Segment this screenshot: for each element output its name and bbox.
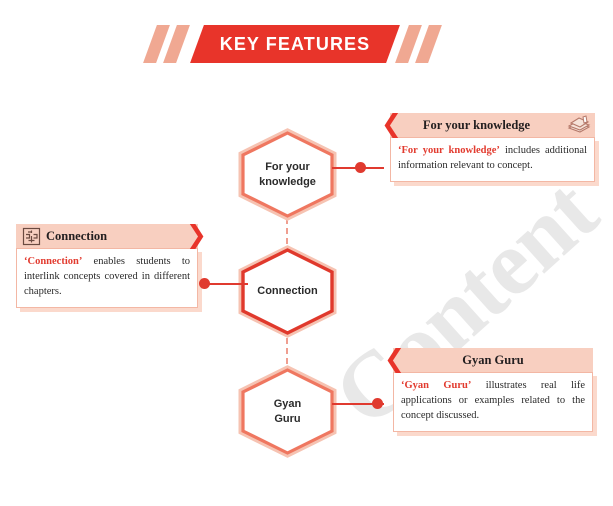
hexagon-for-your-knowledge[interactable]: For your knowledge: [236, 128, 339, 221]
hexagon-label-for-your-knowledge: For your knowledge: [236, 128, 339, 221]
hexagon-label-gyan-guru: Gyan Guru: [236, 365, 339, 458]
callout-header-gyan-guru: ❮ Gyan Guru: [393, 348, 593, 372]
books-icon: [563, 115, 595, 135]
callout-body-connection: ‘Connection’ enables students to interli…: [16, 248, 198, 308]
callout-title-gyan-guru: Gyan Guru: [393, 353, 593, 368]
key-features-infographic: Content KEY FEATURES For your knowledge …: [0, 0, 613, 449]
hex-line-1: Connection: [257, 284, 318, 298]
callout-title-connection: Connection: [46, 229, 198, 244]
connector-dot-gyan-guru: [372, 398, 383, 409]
callout-header-connection: Connection ❯: [16, 224, 198, 248]
hex-line-1: For your: [265, 160, 310, 174]
callout-for-your-knowledge: ❮ For your knowledge ‘For your knowledge…: [390, 113, 595, 182]
callout-quote-gyan-guru: ‘Gyan Guru’: [401, 380, 471, 391]
hex-line-2: Guru: [274, 412, 300, 426]
connector-dot-connection: [199, 278, 210, 289]
puzzle-icon: [16, 227, 46, 246]
chevron-left-icon: ❮: [384, 346, 405, 372]
callout-header-for-your-knowledge: ❮ For your knowledge: [390, 113, 595, 137]
callout-title-for-your-knowledge: For your knowledge: [390, 118, 563, 133]
key-features-banner: KEY FEATURES: [150, 25, 440, 63]
hex-line-1: Gyan: [274, 397, 302, 411]
hex-line-2: knowledge: [259, 175, 316, 189]
hexagon-label-connection: Connection: [236, 245, 339, 338]
chevron-left-icon: ❮: [381, 111, 402, 137]
callout-connection: Connection ❯ ‘Connection’ enables studen…: [16, 224, 198, 308]
callout-quote-connection: ‘Connection’: [24, 256, 82, 267]
connector-dot-for-your-knowledge: [355, 162, 366, 173]
callout-quote-for-your-knowledge: ‘For your knowledge’: [398, 145, 500, 156]
callout-body-gyan-guru: ‘Gyan Guru’ illustrates real life applic…: [393, 372, 593, 432]
callout-gyan-guru: ❮ Gyan Guru ‘Gyan Guru’ illustrates real…: [393, 348, 593, 432]
callout-body-for-your-knowledge: ‘For your knowledge’ includes additional…: [390, 137, 595, 182]
hexagon-gyan-guru[interactable]: Gyan Guru: [236, 365, 339, 458]
hexagon-connection[interactable]: Connection: [236, 245, 339, 338]
chevron-right-icon: ❯: [186, 222, 207, 248]
banner-title: KEY FEATURES: [150, 25, 440, 63]
